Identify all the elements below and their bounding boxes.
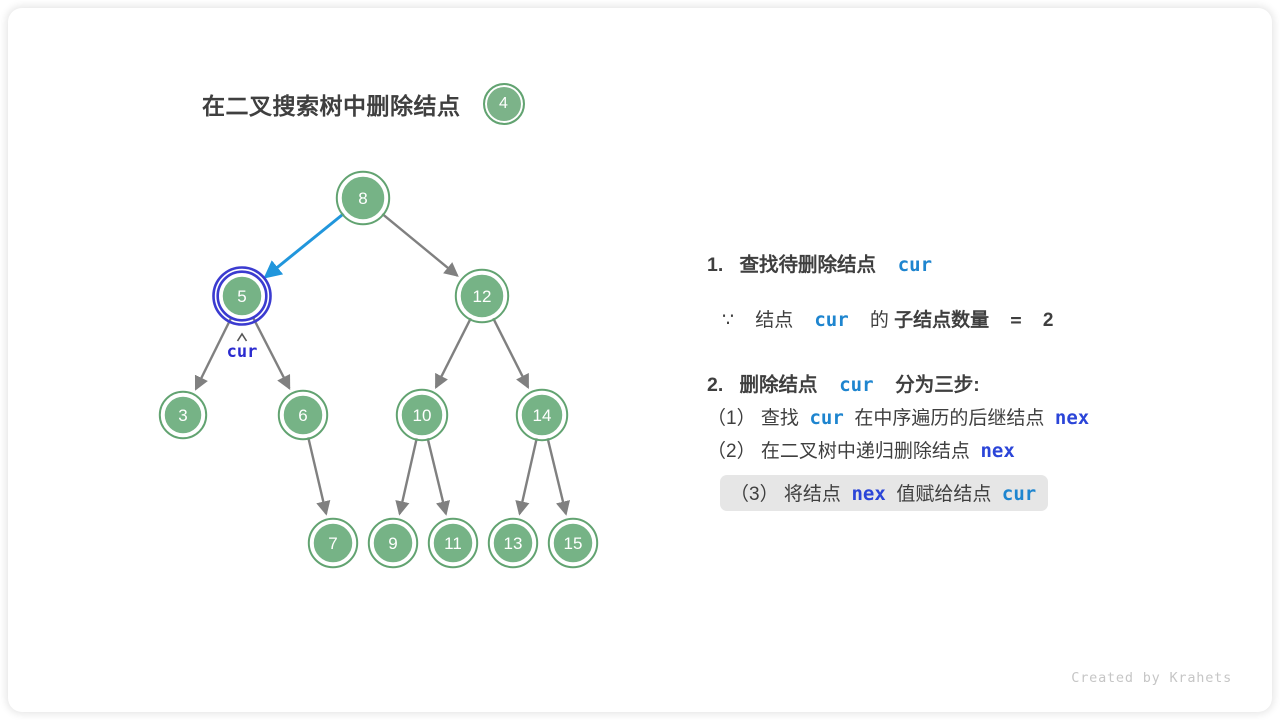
tree-edge xyxy=(520,438,537,513)
tree-edge xyxy=(493,318,528,387)
substep-index: （2） xyxy=(707,441,756,462)
tree-node: 6 xyxy=(279,391,327,439)
step2-prefix: 删除结点 xyxy=(740,374,818,396)
substep-var-nex: nex xyxy=(1055,407,1089,429)
tree-node: 5 xyxy=(214,268,271,325)
tree-edge xyxy=(436,318,471,387)
reason-line: ∵ 结点 cur 的 子结点数量 = 2 xyxy=(722,305,1244,332)
tree-edge xyxy=(548,438,566,514)
node-label: 8 xyxy=(358,189,367,208)
substep-text-pre: 将结点 xyxy=(784,484,841,505)
substep-line: （3） 将结点 nex 值赋给结点 cur xyxy=(707,469,1244,511)
substep-var-nex: nex xyxy=(851,483,885,505)
substep-highlight: （3） 将结点 nex 值赋给结点 cur xyxy=(720,475,1048,511)
node-label: 14 xyxy=(533,406,552,425)
step2-var-cur: cur xyxy=(839,374,873,396)
step2-suffix: 分为三步: xyxy=(895,374,980,396)
reason-prefix: 结点 xyxy=(755,310,793,331)
reason-var-cur: cur xyxy=(814,309,848,331)
substep-index: （1） xyxy=(707,408,756,429)
substep-line: （2） 在二叉树中递归删除结点 nex xyxy=(707,436,1244,463)
substep-line: （1） 查找 cur 在中序遍历的后继结点 nex xyxy=(707,403,1244,430)
node-label: 7 xyxy=(328,534,337,553)
cur-pointer-label: cur xyxy=(227,342,258,362)
explanation-panel: 1. 查找待删除结点 cur ∵ 结点 cur 的 子结点数量 = 2 xyxy=(684,248,1244,511)
tree-edge xyxy=(400,438,417,513)
substep-text-mid: 值赋给结点 xyxy=(896,484,991,505)
node-label: 9 xyxy=(388,534,397,553)
tree-node: 7 xyxy=(309,519,357,567)
tree-node: 15 xyxy=(549,519,597,567)
substep-content: （1） 查找 cur 在中序遍历的后继结点 nex xyxy=(707,408,1089,429)
cur-pointer: cur xyxy=(227,334,258,362)
tree-edges xyxy=(196,214,566,514)
tree-node: 12 xyxy=(456,270,508,322)
reason-middle: 的 xyxy=(870,310,889,331)
step2-line: 2. 删除结点 cur 分为三步: xyxy=(707,368,1244,397)
substep-var-cur: cur xyxy=(1002,483,1036,505)
tree-edge xyxy=(308,437,326,513)
node-label: 13 xyxy=(504,534,523,553)
tree-node: 11 xyxy=(429,519,477,567)
node-label: 3 xyxy=(178,406,187,425)
step2-index: 2. xyxy=(707,374,723,396)
reason-symbol: ∵ xyxy=(722,310,734,331)
tree-node: 9 xyxy=(369,519,417,567)
substep-list: （1） 查找 cur 在中序遍历的后继结点 nex（2） 在二叉树中递归删除结点… xyxy=(684,403,1244,511)
tree-nodes: 851236101479111315 xyxy=(160,172,597,567)
slide-card: 在二叉搜索树中删除结点 4 851236101479111315 cur 1. xyxy=(8,8,1272,712)
tree-node: 10 xyxy=(397,390,447,440)
substep-text-mid: 在中序遍历的后继结点 xyxy=(854,408,1044,429)
step1-index: 1. xyxy=(707,254,723,276)
step1-var-cur: cur xyxy=(898,254,932,276)
binary-search-tree-diagram: 851236101479111315 cur xyxy=(8,8,668,608)
tree-edge xyxy=(428,438,446,514)
substep-text-pre: 在二叉树中递归删除结点 xyxy=(761,441,970,462)
tree-node: 13 xyxy=(489,519,537,567)
node-label: 6 xyxy=(298,406,307,425)
step1-text: 查找待删除结点 xyxy=(740,254,877,276)
substep-var-nex: nex xyxy=(980,440,1014,462)
tree-edge xyxy=(265,214,343,277)
tree-edge xyxy=(382,214,457,276)
footer-credit: Created by Krahets xyxy=(1071,670,1232,686)
caret-up-icon xyxy=(238,334,247,341)
tree-node: 3 xyxy=(160,392,206,438)
tree-node: 8 xyxy=(337,172,389,224)
reason-bold-part: 子结点数量 xyxy=(894,310,989,331)
reason-value: 2 xyxy=(1043,310,1054,331)
node-label: 11 xyxy=(444,534,462,553)
tree-node: 14 xyxy=(517,390,567,440)
node-label: 10 xyxy=(413,406,432,425)
substep-text-pre: 查找 xyxy=(761,408,799,429)
substep-var-cur: cur xyxy=(809,407,843,429)
node-label: 15 xyxy=(564,534,583,553)
node-label: 5 xyxy=(237,287,246,306)
reason-equals: = xyxy=(1010,309,1021,331)
step1-line: 1. 查找待删除结点 cur xyxy=(707,248,1244,277)
node-label: 12 xyxy=(473,287,492,306)
substep-content: （2） 在二叉树中递归删除结点 nex xyxy=(707,441,1015,462)
substep-index: （3） xyxy=(730,484,779,505)
screenshot-root: 在二叉搜索树中删除结点 4 851236101479111315 cur 1. xyxy=(0,0,1280,720)
tree-edge xyxy=(252,316,289,388)
